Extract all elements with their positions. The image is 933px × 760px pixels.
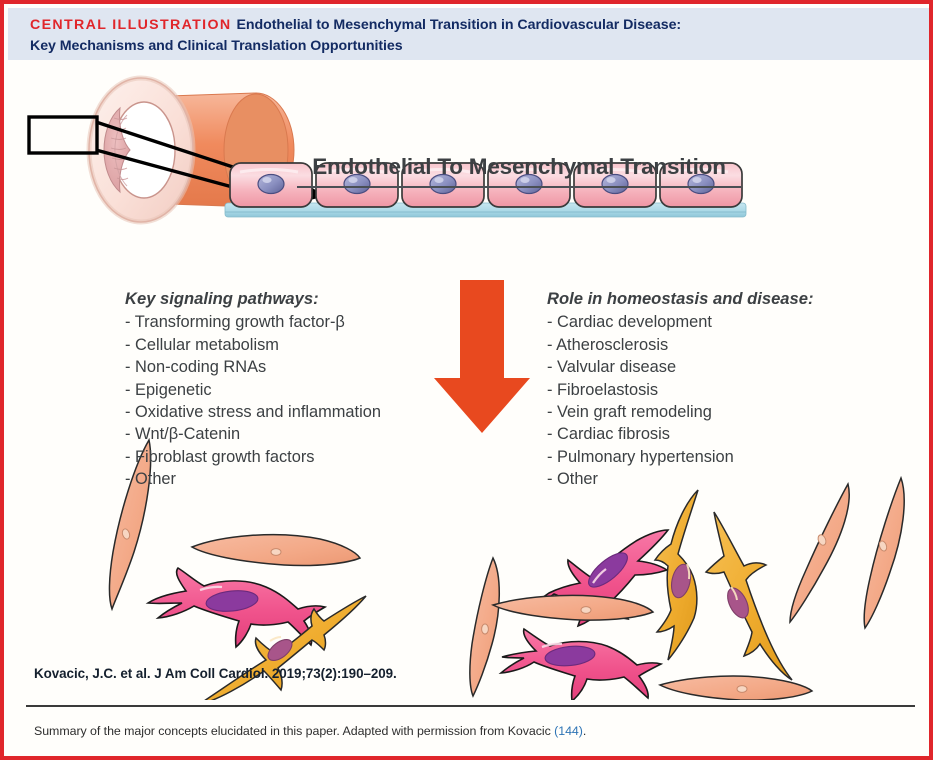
list-item: - Cardiac fibrosis: [547, 423, 814, 445]
illustration-canvas: Endothelial To Mesenchymal Transition Ke…: [8, 60, 933, 700]
cell-nucleus: [258, 175, 284, 194]
caption-divider: [26, 705, 915, 707]
list-item: - Valvular disease: [547, 356, 814, 378]
title-underline: [297, 186, 741, 188]
list-item: - Cardiac development: [547, 311, 814, 333]
central-illustration-tag: CENTRAL ILLUSTRATION: [30, 17, 231, 33]
disease-role-list: - Cardiac development - Atherosclerosis …: [547, 311, 814, 490]
header-title-text-1: Endothelial to Mesenchymal Transition in…: [236, 17, 681, 33]
header-title-line-1: CENTRAL ILLUSTRATIONEndothelial to Mesen…: [30, 15, 933, 36]
mesenchymal-spindle-cell: [790, 484, 849, 622]
column-heading-right: Role in homeostasis and disease:: [547, 288, 814, 310]
mesenchymal-stellate-cell: [501, 629, 661, 700]
list-item: - Cellular metabolism: [125, 334, 381, 356]
list-item: - Oxidative stress and inflammation: [125, 401, 381, 423]
pathway-list: - Transforming growth factor-β - Cellula…: [125, 311, 381, 490]
mesenchymal-elongated-cell: [655, 490, 698, 660]
list-item: - Transforming growth factor-β: [125, 311, 381, 333]
mesenchymal-spindle-cell: [864, 478, 904, 628]
list-item: - Pulmonary hypertension: [547, 446, 814, 468]
column-heading-left: Key signaling pathways:: [125, 288, 381, 310]
list-item: - Other: [125, 468, 381, 490]
downward-transition-arrow: [434, 280, 530, 433]
mesenchymal-elongated-cell: [706, 512, 792, 680]
page-title: Endothelial To Mesenchymal Transition: [297, 154, 741, 180]
mesenchymal-spindle-cell: [192, 535, 360, 566]
list-item: - Atherosclerosis: [547, 334, 814, 356]
role-in-homeostasis-and-disease-column: Role in homeostasis and disease: - Cardi…: [547, 288, 814, 491]
list-item: - Fibroblast growth factors: [125, 446, 381, 468]
key-signaling-pathways-column: Key signaling pathways: - Transforming g…: [125, 288, 381, 491]
list-item: - Non-coding RNAs: [125, 356, 381, 378]
mesenchymal-spindle-cell: [470, 558, 499, 696]
list-item: - Vein graft remodeling: [547, 401, 814, 423]
mesenchymal-spindle-cell: [660, 676, 812, 700]
caption-text: Summary of the major concepts elucidated…: [34, 724, 554, 738]
mesenchymal-spindle-cell: [493, 595, 653, 620]
figure-caption: Summary of the major concepts elucidated…: [34, 724, 586, 738]
list-item: - Other: [547, 468, 814, 490]
caption-tail: .: [583, 724, 586, 738]
header-title-line-2: Key Mechanisms and Clinical Translation …: [30, 36, 933, 57]
list-item: - Epigenetic: [125, 379, 381, 401]
reference-link[interactable]: (144): [554, 724, 583, 738]
figure-citation: Kovacic, J.C. et al. J Am Coll Cardiol. …: [34, 666, 397, 681]
central-illustration-figure: CENTRAL ILLUSTRATIONEndothelial to Mesen…: [0, 0, 933, 760]
list-item: - Fibroelastosis: [547, 379, 814, 401]
figure-header-band: CENTRAL ILLUSTRATIONEndothelial to Mesen…: [8, 8, 933, 60]
mesenchymal-stellate-cell: [148, 568, 325, 647]
list-item: - Wnt/β-Catenin: [125, 423, 381, 445]
